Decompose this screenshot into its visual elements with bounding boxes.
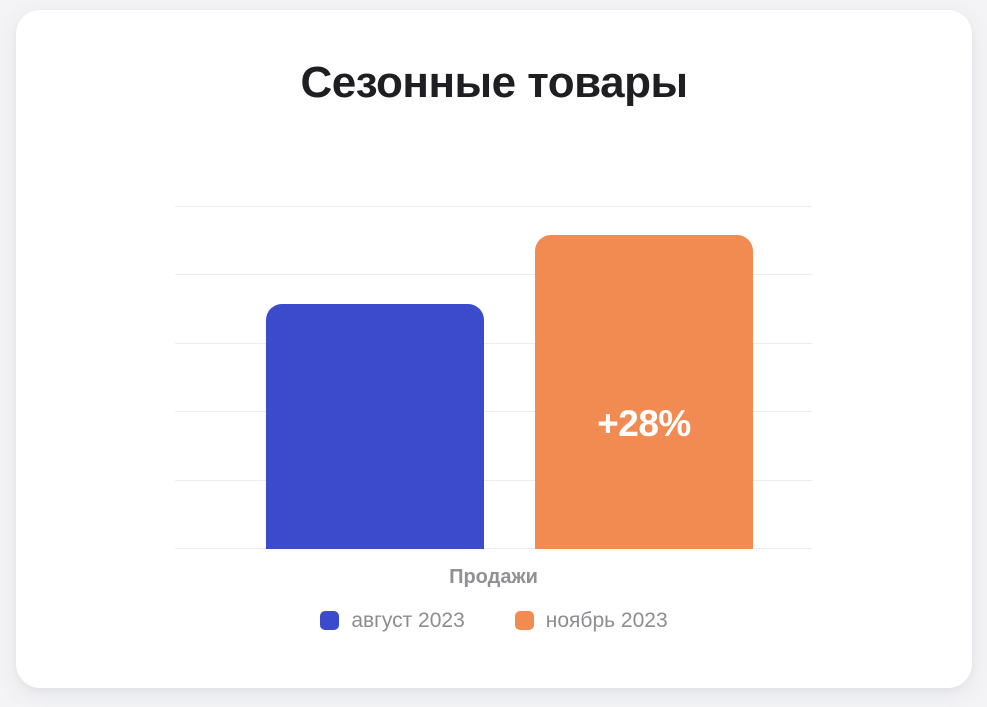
bar-1[interactable] bbox=[266, 304, 484, 549]
bar-value-label: +28% bbox=[535, 403, 753, 445]
chart-card: Сезонные товары +28% Продажи август 2023… bbox=[16, 10, 972, 688]
x-axis-label: Продажи bbox=[175, 566, 812, 589]
legend-item-label: ноябрь 2023 bbox=[546, 610, 668, 631]
chart-bars: +28% bbox=[175, 206, 812, 549]
legend-item-2[interactable]: ноябрь 2023 bbox=[515, 610, 668, 631]
screenshot-root: Сезонные товары +28% Продажи август 2023… bbox=[0, 0, 987, 707]
legend-item-label: август 2023 bbox=[351, 610, 464, 631]
bar-2[interactable]: +28% bbox=[535, 235, 753, 549]
legend-item-1[interactable]: август 2023 bbox=[320, 610, 464, 631]
legend-swatch-icon bbox=[320, 611, 339, 630]
page-title: Сезонные товары bbox=[16, 58, 972, 109]
chart-plot-area: +28% bbox=[175, 206, 812, 549]
legend-swatch-icon bbox=[515, 611, 534, 630]
chart-legend: август 2023ноябрь 2023 bbox=[16, 610, 972, 631]
